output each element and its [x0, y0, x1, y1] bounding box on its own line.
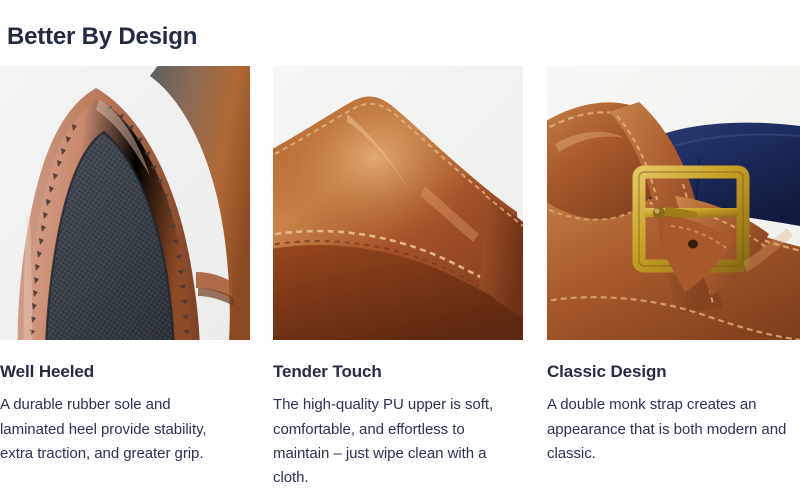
- better-by-design-section: Better By Design: [0, 0, 800, 494]
- feature-card-classic-design: Classic Design A double monk strap creat…: [547, 66, 800, 466]
- feature-description: A double monk strap creates an appearanc…: [547, 393, 795, 466]
- feature-description: The high-quality PU upper is soft, comfo…: [273, 393, 516, 490]
- leather-upper-closeup-image: [273, 66, 523, 340]
- monk-strap-buckle-closeup-image: [547, 66, 800, 340]
- feature-description: A durable rubber sole and laminated heel…: [0, 393, 232, 466]
- feature-title: Well Heeled: [0, 361, 250, 382]
- section-title: Better By Design: [7, 23, 197, 52]
- feature-title: Classic Design: [547, 361, 800, 382]
- feature-title: Tender Touch: [273, 361, 523, 382]
- feature-card-well-heeled: Well Heeled A durable rubber sole and la…: [0, 66, 250, 466]
- feature-card-tender-touch: Tender Touch The high-quality PU upper i…: [273, 66, 523, 490]
- shoe-sole-closeup-image: [0, 66, 250, 340]
